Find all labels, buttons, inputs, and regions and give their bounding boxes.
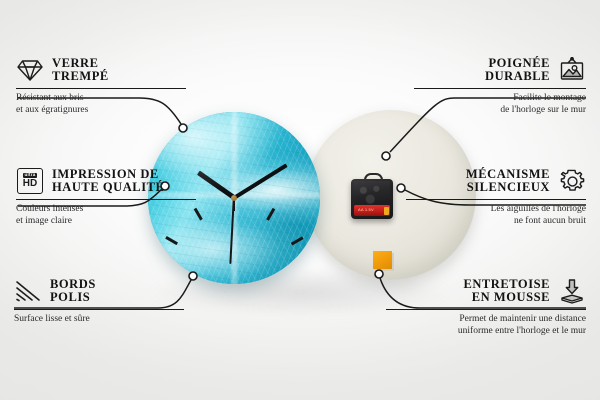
feature-impression-haute-qualite: ultra HD IMPRESSION DE HAUTE QUALITÉ Cou… — [16, 167, 196, 227]
feature-subtitle-line1: Résistant aux bris — [16, 93, 186, 105]
feature-subtitle-line2: et image claire — [16, 216, 196, 228]
feature-heading: BORDS POLIS — [14, 277, 184, 305]
feature-divider — [16, 199, 196, 200]
feature-mecanisme-silencieux: MÉCANISME SILENCIEUX Les aiguilles de l'… — [406, 167, 586, 227]
feature-subtitle-line1: Couleurs intenses — [16, 204, 196, 216]
quartz-mechanism: AA 1.5V — [351, 179, 393, 219]
ultra-hd-icon: ultra HD — [16, 167, 44, 195]
feature-subtitle-line1: Permet de maintenir une distance — [386, 314, 586, 326]
feature-heading: ENTRETOISE EN MOUSSE — [386, 277, 586, 305]
feature-title: ENTRETOISE EN MOUSSE — [463, 278, 550, 305]
feature-title-line1: POIGNÉE — [485, 57, 550, 71]
feature-title-line1: MÉCANISME — [466, 168, 550, 182]
feature-title-line2: HAUTE QUALITÉ — [52, 181, 164, 195]
battery-label: AA 1.5V — [358, 207, 374, 212]
feature-verre-trempe: VERRE TREMPÉ Résistant aux bris et aux é… — [16, 56, 186, 116]
infographic-canvas: AA 1.5V — [0, 0, 600, 400]
battery: AA 1.5V — [354, 205, 390, 216]
feature-divider — [414, 88, 586, 89]
ultra-hd-badge: ultra HD — [17, 168, 43, 194]
feature-title-line2: EN MOUSSE — [463, 291, 550, 305]
feature-title: IMPRESSION DE HAUTE QUALITÉ — [52, 168, 164, 195]
feature-title-line1: VERRE — [52, 57, 109, 71]
feature-subtitle-line2: ne font aucun bruit — [406, 216, 586, 228]
feature-entretoise-en-mousse: ENTRETOISE EN MOUSSE Permet de maintenir… — [386, 277, 586, 337]
feature-title-line2: POLIS — [50, 291, 96, 305]
feature-title-line2: SILENCIEUX — [466, 181, 550, 195]
feature-bords-polis: BORDS POLIS Surface lisse et sûre — [14, 277, 184, 326]
feature-title-line1: IMPRESSION DE — [52, 168, 164, 182]
feature-title: POIGNÉE DURABLE — [485, 57, 550, 84]
gear-icon — [558, 167, 586, 195]
feature-subtitle-line1: Les aiguilles de l'horloge — [406, 204, 586, 216]
feature-divider — [406, 199, 586, 200]
feature-subtitle-line2: et aux égratignures — [16, 105, 186, 117]
feature-title: MÉCANISME SILENCIEUX — [466, 168, 550, 195]
feature-subtitle-line2: de l'horloge sur le mur — [414, 105, 586, 117]
hanging-frame-icon — [558, 56, 586, 84]
feature-heading: VERRE TREMPÉ — [16, 56, 186, 84]
feature-divider — [14, 309, 184, 310]
feature-title: BORDS POLIS — [50, 278, 96, 305]
feature-subtitle-line1: Surface lisse et sûre — [14, 314, 184, 326]
diamond-icon — [16, 56, 44, 84]
feature-divider — [386, 309, 586, 310]
feature-heading: POIGNÉE DURABLE — [414, 56, 586, 84]
polished-edge-icon — [14, 277, 42, 305]
foam-spacer — [373, 251, 392, 269]
feature-subtitle-line1: Facilite le montage — [414, 93, 586, 105]
feature-poignee-durable: POIGNÉE DURABLE Facilite le montage de l… — [414, 56, 586, 116]
mechanism-housing-detail — [354, 181, 390, 207]
hour-tick — [300, 276, 313, 279]
ultra-hd-big-label: HD — [23, 179, 37, 189]
feature-heading: ultra HD IMPRESSION DE HAUTE QUALITÉ — [16, 167, 196, 195]
feature-title-line2: DURABLE — [485, 70, 550, 84]
feature-heading: MÉCANISME SILENCIEUX — [406, 167, 586, 195]
feature-title-line1: ENTRETOISE — [463, 278, 550, 292]
feature-title: VERRE TREMPÉ — [52, 57, 109, 84]
feature-divider — [16, 88, 186, 89]
feature-title-line2: TREMPÉ — [52, 70, 109, 84]
feature-title-line1: BORDS — [50, 278, 96, 292]
foam-spacer-icon — [558, 277, 586, 305]
feature-subtitle-line2: uniforme entre l'horloge et le mur — [386, 326, 586, 338]
